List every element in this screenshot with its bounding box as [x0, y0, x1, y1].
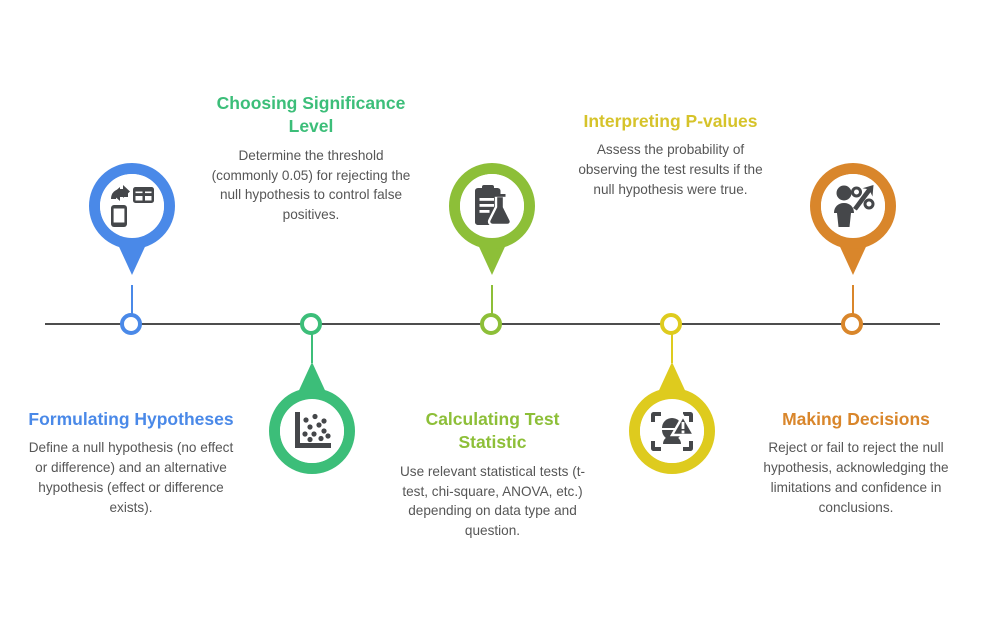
step-4-pin[interactable] [629, 362, 715, 474]
clipboard-flask-icon [460, 174, 524, 238]
step-1-text-block: Formulating Hypotheses Define a null hyp… [25, 408, 237, 518]
timeline-node-1[interactable] [120, 313, 142, 335]
data-exchange-mobile-table-icon [100, 174, 164, 238]
step-5-pin[interactable] [810, 163, 896, 275]
connector-step-4 [671, 333, 673, 363]
step-5-title: Making Decisions [757, 408, 955, 431]
connector-step-5 [852, 285, 854, 315]
step-2-text-block: Choosing Significance Level Determine th… [206, 92, 416, 225]
connector-step-1 [131, 285, 133, 315]
step-3-pin[interactable] [449, 163, 535, 275]
connector-step-2 [311, 333, 313, 363]
step-1-title: Formulating Hypotheses [25, 408, 237, 431]
step-1-pin[interactable] [89, 163, 175, 275]
step-1-description: Define a null hypothesis (no effect or d… [25, 438, 237, 518]
connector-step-3 [491, 285, 493, 315]
timeline-node-4[interactable] [660, 313, 682, 335]
step-5-description: Reject or fail to reject the null hypoth… [757, 438, 955, 518]
person-percent-growth-icon [821, 174, 885, 238]
step-5-text-block: Making Decisions Reject or fail to rejec… [757, 408, 955, 518]
hypothesis-testing-timeline-infographic: Formulating Hypotheses Define a null hyp… [0, 0, 984, 619]
step-2-description: Determine the threshold (commonly 0.05) … [206, 146, 416, 226]
step-4-title: Interpreting P-values [568, 110, 773, 133]
step-2-title: Choosing Significance Level [206, 92, 416, 139]
timeline-node-2[interactable] [300, 313, 322, 335]
data-analysis-warning-icon [640, 399, 704, 463]
step-3-description: Use relevant statistical tests (t-test, … [390, 462, 595, 542]
step-2-pin[interactable] [269, 362, 355, 474]
timeline-node-5[interactable] [841, 313, 863, 335]
scatter-plot-icon [280, 399, 344, 463]
step-3-title: Calculating Test Statistic [390, 408, 595, 455]
step-3-text-block: Calculating Test Statistic Use relevant … [390, 408, 595, 541]
step-4-description: Assess the probability of observing the … [568, 140, 773, 200]
timeline-node-3[interactable] [480, 313, 502, 335]
step-4-text-block: Interpreting P-values Assess the probabi… [568, 110, 773, 200]
